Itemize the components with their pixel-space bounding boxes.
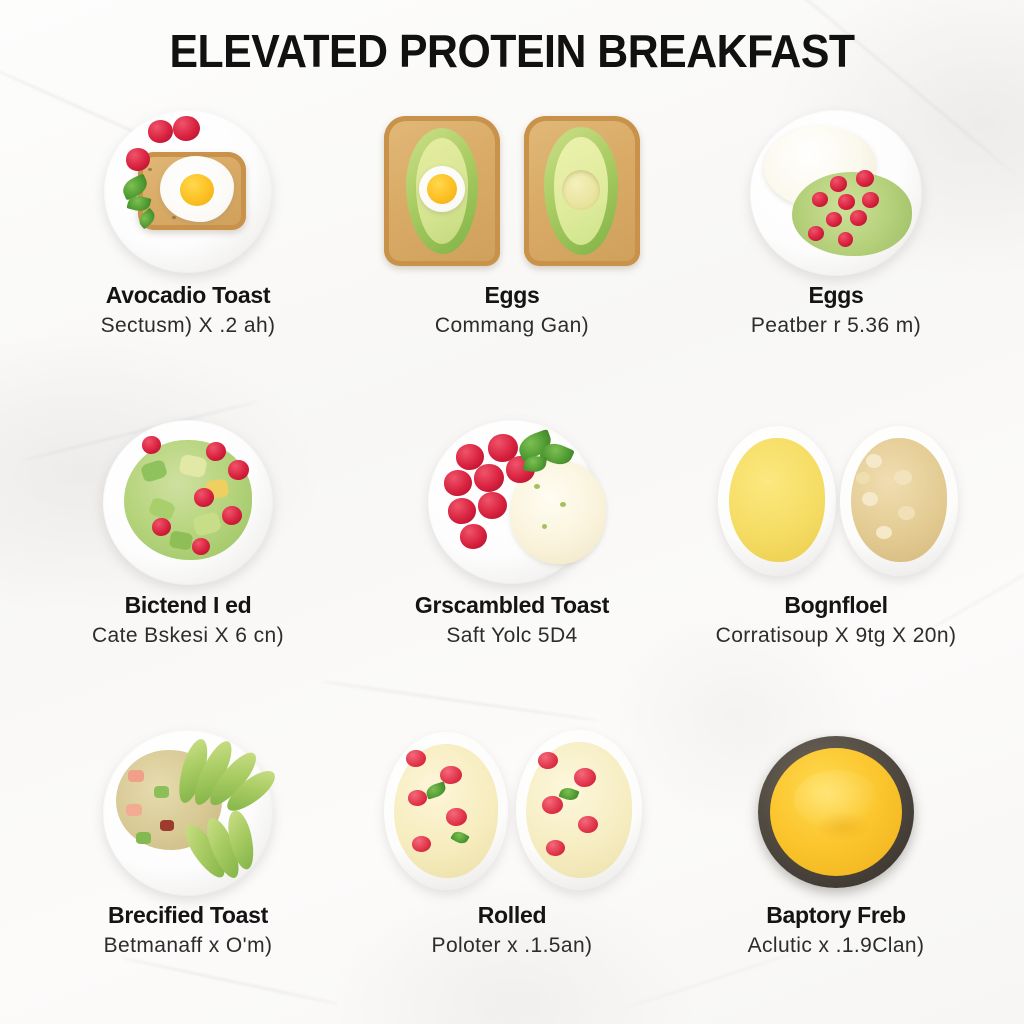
recipe-caption: Rolled Poloter x .1.5an)	[350, 902, 674, 959]
recipe-subtitle: Betmanaff x O'm)	[26, 933, 350, 958]
recipe-title: Eggs	[350, 282, 674, 308]
recipe-grid: Avocadio Toast Sectusm) X .2 ah) Eggs	[0, 104, 1024, 1024]
recipe-title: Baptory Freb	[674, 902, 998, 928]
recipe-caption: Brecified Toast Betmanaff x O'm)	[26, 902, 350, 959]
recipe-title: Grscambled Toast	[350, 592, 674, 618]
recipe-subtitle: Commang Gan)	[350, 313, 674, 338]
sliced-avocado-fan-with-salsa-plate-image	[26, 724, 350, 902]
raspberries-with-cottage-cheese-and-mint-bowl-image	[350, 414, 674, 592]
recipe-title: Rolled	[350, 902, 674, 928]
dark-bowl-of-creamy-yellow-polenta-image	[674, 724, 998, 902]
recipe-card[interactable]: Baptory Freb Aclutic x .1.9Clan)	[674, 724, 998, 1024]
recipe-card[interactable]: Bictend I ed Cate Bskesi X 6 cn)	[26, 414, 350, 724]
recipe-title: Bictend I ed	[26, 592, 350, 618]
recipe-caption: Baptory Freb Aclutic x .1.9Clan)	[674, 902, 998, 959]
recipe-caption: Eggs Commang Gan)	[350, 282, 674, 339]
recipe-subtitle: Aclutic x .1.9Clan)	[674, 933, 998, 958]
chopped-green-salad-with-raspberries-bowl-image	[26, 414, 350, 592]
recipe-card[interactable]: Avocadio Toast Sectusm) X .2 ah)	[26, 104, 350, 414]
two-avocado-toast-slices-with-egg-image	[350, 104, 674, 282]
recipe-title: Avocadio Toast	[26, 282, 350, 308]
recipe-title: Eggs	[674, 282, 998, 308]
poster-canvas: ELEVATED PROTEIN BREAKFAST Avocadio Toa	[0, 0, 1024, 1024]
recipe-card[interactable]: Brecified Toast Betmanaff x O'm)	[26, 724, 350, 1024]
recipe-subtitle: Sectusm) X .2 ah)	[26, 313, 350, 338]
recipe-caption: Grscambled Toast Saft Yolc 5D4	[350, 592, 674, 649]
scrambled-eggs-mashed-avocado-berries-plate-image	[674, 104, 998, 282]
recipe-caption: Bognfloel Corratisoup X 9tg X 20n)	[674, 592, 998, 649]
recipe-subtitle: Poloter x .1.5an)	[350, 933, 674, 958]
recipe-subtitle: Corratisoup X 9tg X 20n)	[674, 623, 998, 648]
toast-with-fried-egg-raspberries-plate-image	[26, 104, 350, 282]
recipe-subtitle: Peatber r 5.36 m)	[674, 313, 998, 338]
recipe-card[interactable]: Eggs Peatber r 5.36 m)	[674, 104, 998, 414]
recipe-card[interactable]: Bognfloel Corratisoup X 9tg X 20n)	[674, 414, 998, 724]
recipe-card[interactable]: Eggs Commang Gan)	[350, 104, 674, 414]
recipe-title: Bognfloel	[674, 592, 998, 618]
recipe-title: Brecified Toast	[26, 902, 350, 928]
recipe-card[interactable]: Grscambled Toast Saft Yolc 5D4	[350, 414, 674, 724]
two-plates-scrambled-eggs-and-tofu-image	[674, 414, 998, 592]
recipe-subtitle: Saft Yolc 5D4	[350, 623, 674, 648]
two-oval-plates-eggs-with-strawberries-image	[350, 724, 674, 902]
recipe-caption: Bictend I ed Cate Bskesi X 6 cn)	[26, 592, 350, 649]
recipe-card[interactable]: Rolled Poloter x .1.5an)	[350, 724, 674, 1024]
recipe-caption: Eggs Peatber r 5.36 m)	[674, 282, 998, 339]
recipe-caption: Avocadio Toast Sectusm) X .2 ah)	[26, 282, 350, 339]
page-title: ELEVATED PROTEIN BREAKFAST	[36, 0, 988, 78]
recipe-subtitle: Cate Bskesi X 6 cn)	[26, 623, 350, 648]
